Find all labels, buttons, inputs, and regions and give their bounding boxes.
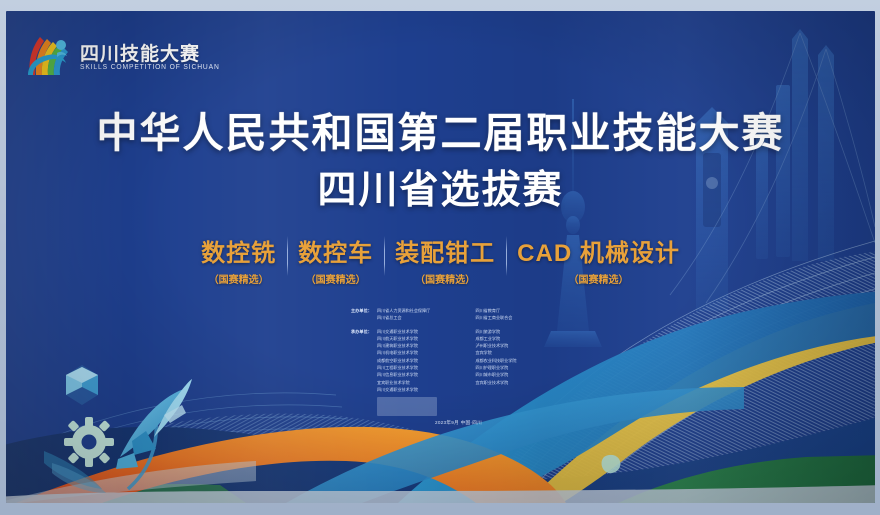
category-name: 装配钳工 — [395, 233, 495, 268]
organizer-entry: 成都工业学院 — [476, 335, 567, 342]
category-item: 装配钳工 （国赛精选） — [384, 233, 506, 286]
organizer-entry: 宜宾职业技术学院 — [476, 379, 567, 386]
organizer-entry: 四川旅游学院 — [476, 328, 567, 335]
organizer-group: 主办单位： 四川省人力资源和社会保障厅 四川省总工会 四川省教育厅 四川省工商业… — [351, 307, 566, 322]
date-location-line: 2023年9月 中国·四川 — [351, 420, 566, 426]
sub-title: 四川省选拔赛 — [6, 159, 875, 215]
organizer-entry: 宜宾职业技术学院 — [377, 379, 468, 386]
organizer-entry: 成都航空职业技术学院 — [377, 357, 468, 364]
screenshot-canvas: 四川技能大赛 SKILLS COMPETITION OF SICHUAN 中华人… — [0, 0, 880, 515]
organizer-entry: 四川城市职业学院 — [476, 371, 567, 378]
organizer-entry: 四川信息职业技术学院 — [377, 371, 468, 378]
category-note: （国赛精选） — [201, 271, 276, 286]
organizer-entry: 四川省总工会 — [377, 314, 468, 321]
organizer-entry: 四川交通职业技术学院 — [377, 328, 468, 335]
organizer-entry: 四川航天职业技术学院 — [377, 335, 468, 342]
organizer-entry: 四川交通职业技术学院 — [377, 386, 468, 393]
organizer-entry: 四川护理职业学院 — [476, 364, 567, 371]
sichuan-skills-rainbow-logo-icon — [22, 27, 78, 83]
category-item: CAD 机械设计 （国赛精选） — [506, 233, 691, 286]
organizer-entry: 四川省教育厅 — [476, 307, 567, 314]
category-note: （国赛精选） — [395, 271, 495, 286]
event-logo: 四川技能大赛 SKILLS COMPETITION OF SICHUAN — [22, 27, 212, 89]
organizer-credits-block: 主办单位： 四川省人力资源和社会保障厅 四川省总工会 四川省教育厅 四川省工商业… — [351, 307, 566, 399]
organizer-label: 承办单位： — [351, 328, 377, 394]
paper-dart-icon — [44, 451, 106, 493]
mint-pebble-shape — [602, 455, 621, 473]
category-item: 数控车 （国赛精选） — [287, 233, 384, 286]
organizer-column-left: 四川省人力资源和社会保障厅 四川省总工会 — [377, 307, 468, 322]
organizer-entry: 泸州职业技术学院 — [476, 342, 567, 349]
obscured-text-block — [377, 397, 437, 416]
category-name: 数控铣 — [201, 233, 276, 268]
organizer-column-right: 四川省教育厅 四川省工商业联合会 — [476, 307, 567, 322]
organizer-label: 主办单位： — [351, 307, 377, 322]
organizer-column-right: 四川旅游学院 成都工业学院 泸州职业技术学院 宜宾学院 成都农业科技职业学院 四… — [476, 328, 567, 394]
gear-icon — [64, 417, 114, 467]
isometric-cube-icon — [66, 365, 98, 405]
left-line-swoosh — [6, 393, 540, 503]
organizer-column-left: 四川交通职业技术学院 四川航天职业技术学院 四川建筑职业技术学院 四川机电职业技… — [377, 328, 468, 394]
organizer-entry: 四川工程职业技术学院 — [377, 364, 468, 371]
event-backdrop-banner: 四川技能大赛 SKILLS COMPETITION OF SICHUAN 中华人… — [6, 11, 875, 503]
space-shuttle-icon — [116, 379, 192, 489]
organizer-entry: 四川机电职业技术学院 — [377, 349, 468, 356]
organizer-entry: 四川省工商业联合会 — [476, 314, 567, 321]
main-title: 中华人民共和国第二届职业技能大赛 — [6, 99, 875, 159]
category-item: 数控铣 （国赛精选） — [190, 233, 287, 286]
organizer-entry: 四川省人力资源和社会保障厅 — [377, 307, 468, 314]
organizer-entry: 宜宾学院 — [476, 349, 567, 356]
logo-text-cn: 四川技能大赛 — [80, 39, 200, 66]
organizer-entry: 成都农业科技职业学院 — [476, 357, 567, 364]
category-name: CAD 机械设计 — [517, 233, 680, 268]
logo-text-en: SKILLS COMPETITION OF SICHUAN — [80, 64, 220, 71]
organizer-group: 承办单位： 四川交通职业技术学院 四川航天职业技术学院 四川建筑职业技术学院 四… — [351, 328, 566, 394]
competition-category-list: 数控铣 （国赛精选） 数控车 （国赛精选） 装配钳工 （国赛精选） CAD 机械… — [6, 233, 875, 286]
organizer-entry: 四川建筑职业技术学院 — [377, 342, 468, 349]
category-note: （国赛精选） — [517, 271, 680, 286]
category-name: 数控车 — [298, 233, 373, 268]
category-note: （国赛精选） — [298, 271, 373, 286]
